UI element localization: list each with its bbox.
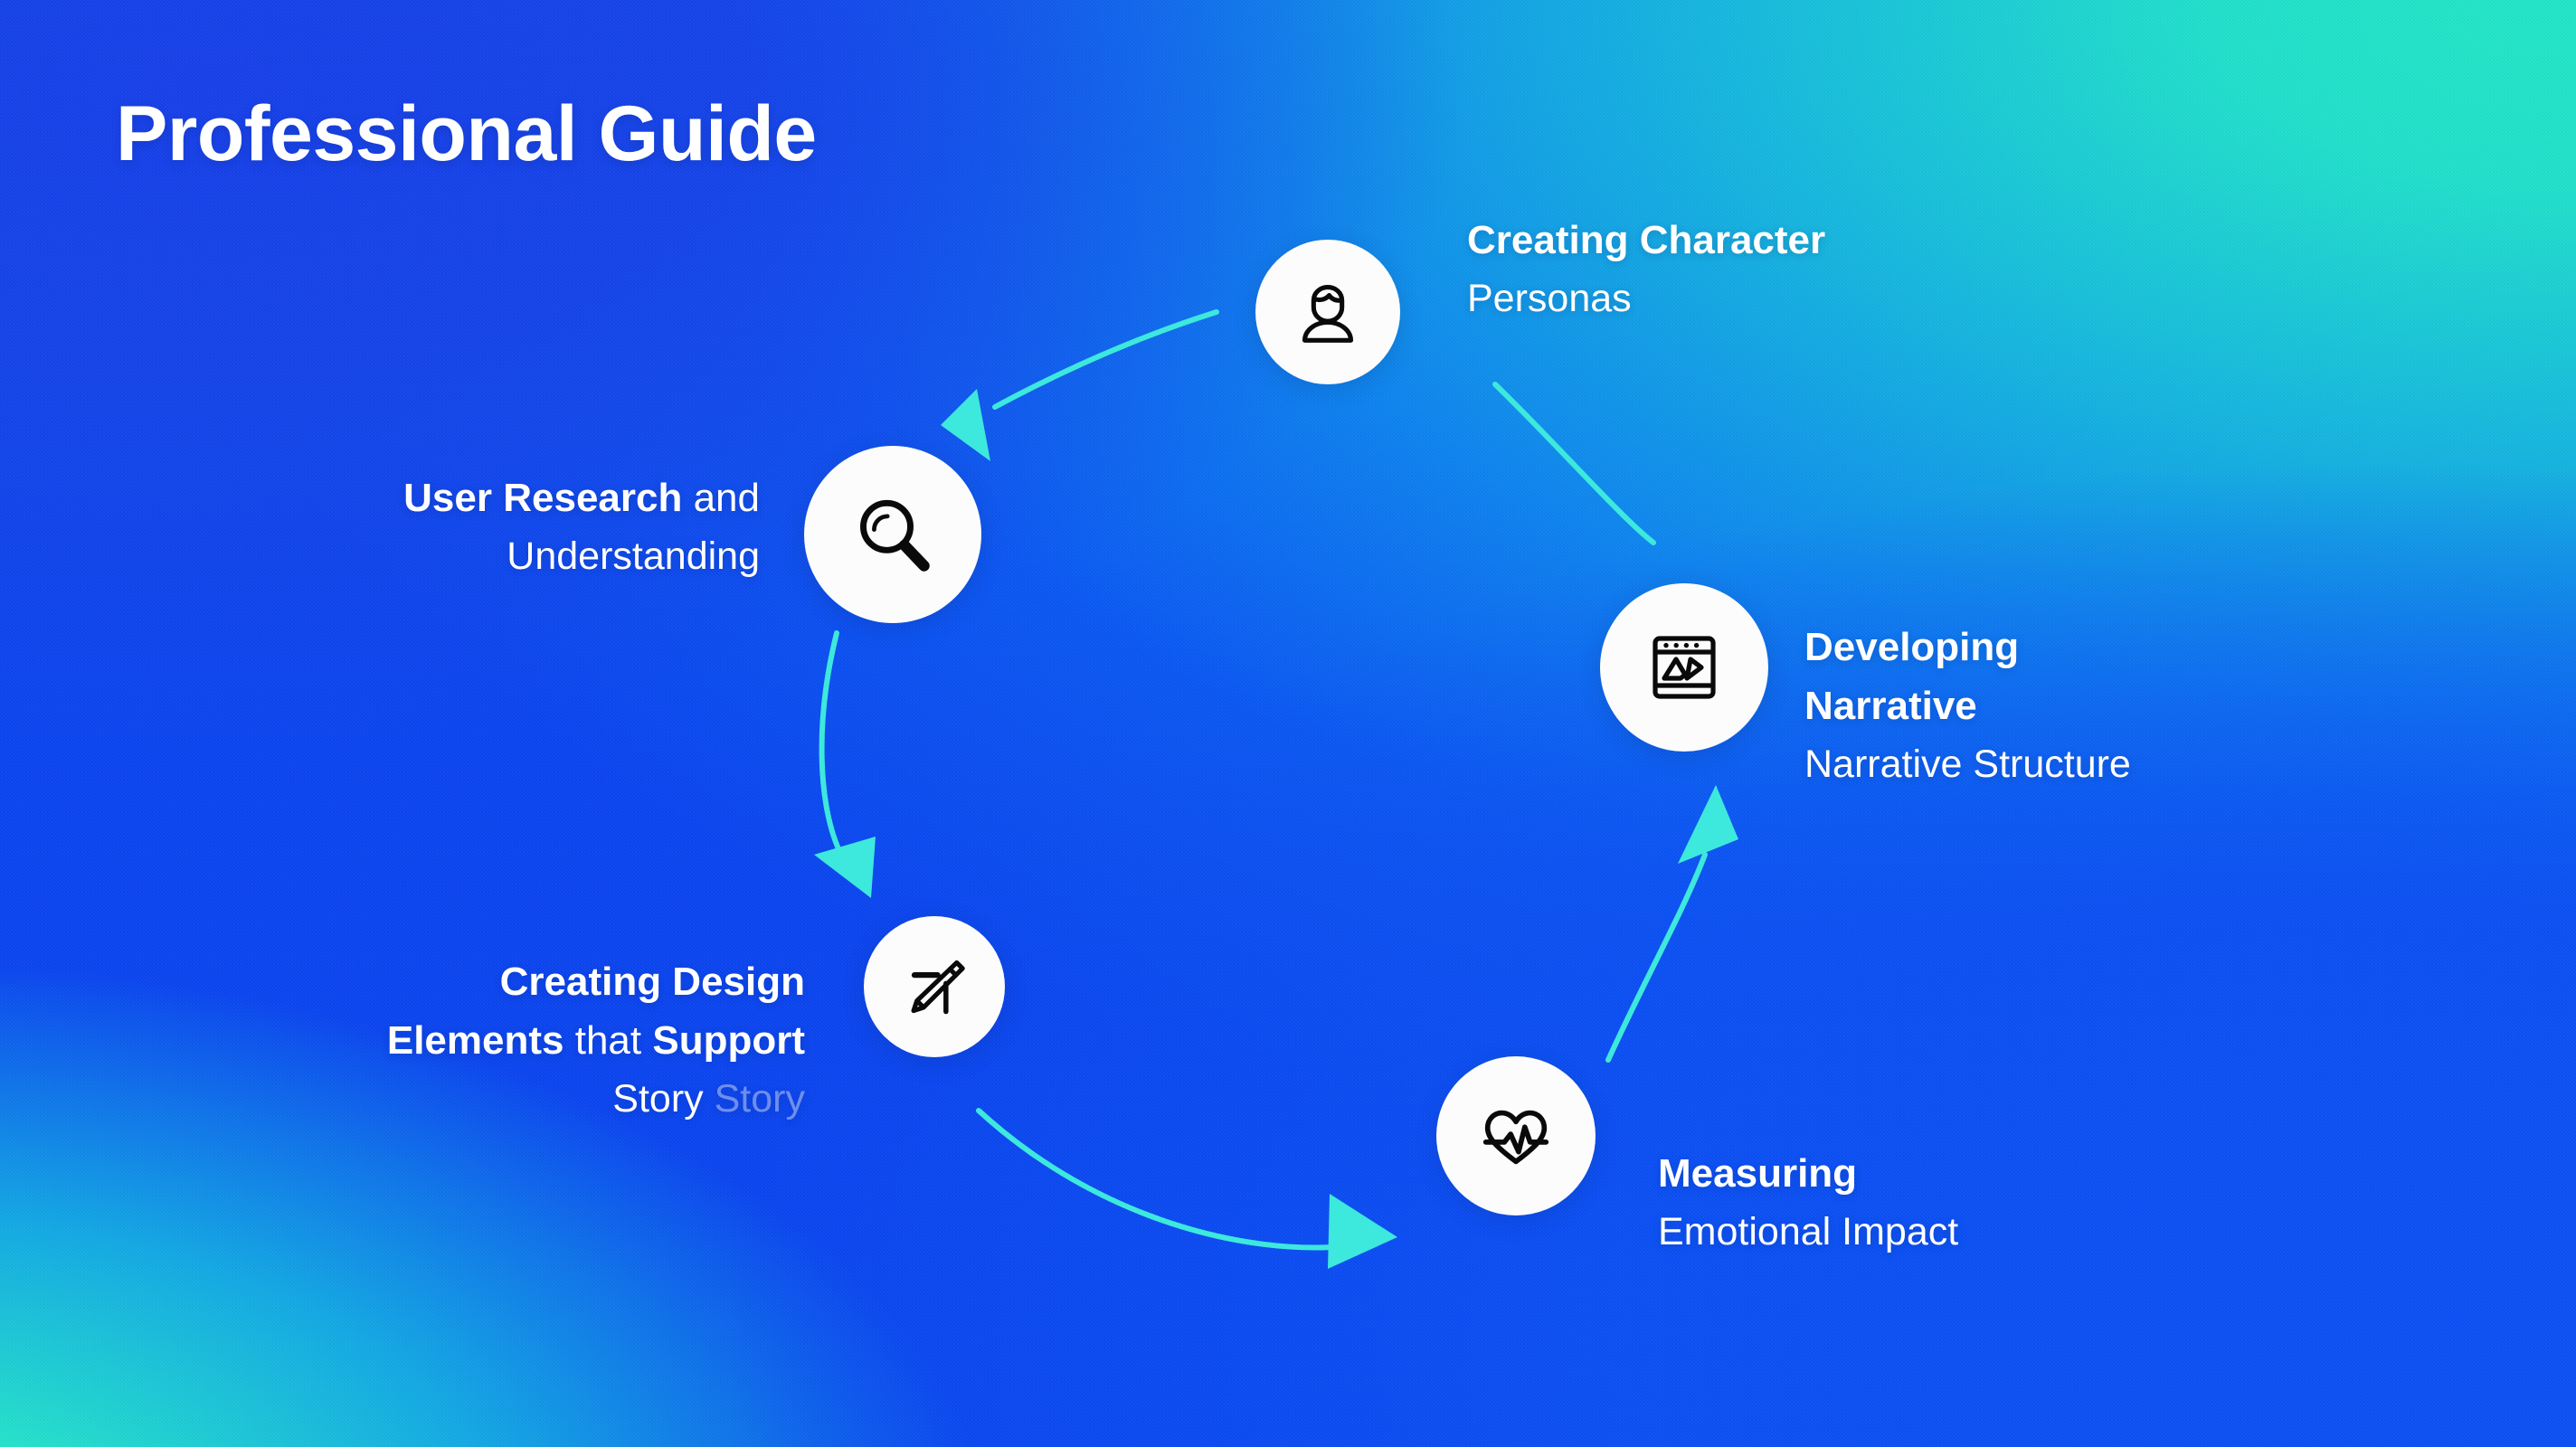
connector-research-to-design	[814, 633, 876, 898]
label-title-line-2: Elements that Support	[54, 1019, 805, 1063]
label-subtitle: Personas	[1467, 278, 1825, 319]
cycle-connectors	[0, 0, 2576, 1447]
label-title-bold: User Research	[403, 476, 682, 520]
person-icon	[1285, 270, 1370, 355]
node-developing-narrative[interactable]	[1600, 583, 1768, 752]
label-title-line-2: Narrative	[1804, 685, 2131, 728]
label-creating-design-elements: Creating Design Elements that Support St…	[54, 945, 805, 1136]
connector-design-to-measuring	[979, 1111, 1397, 1269]
label-title: Measuring	[1658, 1152, 1958, 1196]
label-title: Creating Character	[1467, 219, 1825, 262]
label-subtitle: Narrative Structure	[1804, 743, 2131, 785]
label-user-research: User Research and Understanding	[109, 461, 760, 593]
node-user-research[interactable]	[804, 446, 981, 623]
label-title-line-1: Creating Design	[54, 960, 805, 1004]
label-subtitle: Understanding	[109, 535, 760, 577]
label-title-regular: that	[575, 1018, 653, 1063]
heart-pulse-icon	[1473, 1093, 1558, 1178]
connector-character-to-narrative	[1495, 384, 1653, 543]
node-creating-character[interactable]	[1255, 240, 1400, 384]
pencil-icon	[895, 947, 974, 1026]
infographic-canvas: Professional Guide	[0, 0, 2576, 1447]
label-developing-narrative: Developing Narrative Narrative Structure	[1804, 610, 2131, 801]
label-title-bold-b: Support	[652, 1018, 805, 1063]
label-title-bold-a: Elements	[387, 1018, 575, 1063]
connector-character-to-research	[941, 312, 1217, 461]
node-measuring-emotional-impact[interactable]	[1436, 1056, 1596, 1215]
label-subtitle-faded: Story	[715, 1077, 805, 1121]
label-measuring-emotional-impact: Measuring Emotional Impact	[1658, 1137, 1958, 1269]
label-title-regular: and	[682, 476, 760, 520]
label-title-line-1: Developing	[1804, 626, 2131, 669]
label-subtitle: Emotional Impact	[1658, 1211, 1958, 1253]
connector-measuring-to-narrative	[1608, 785, 1738, 1060]
node-creating-design-elements[interactable]	[864, 916, 1005, 1057]
label-subtitle: Story	[612, 1077, 703, 1121]
label-creating-character: Creating Character Personas	[1467, 203, 1825, 336]
label-title: User Research and	[109, 477, 760, 520]
window-image-icon	[1641, 624, 1728, 711]
label-subtitle-line: Story Story	[54, 1078, 805, 1120]
magnifier-icon	[846, 487, 940, 582]
